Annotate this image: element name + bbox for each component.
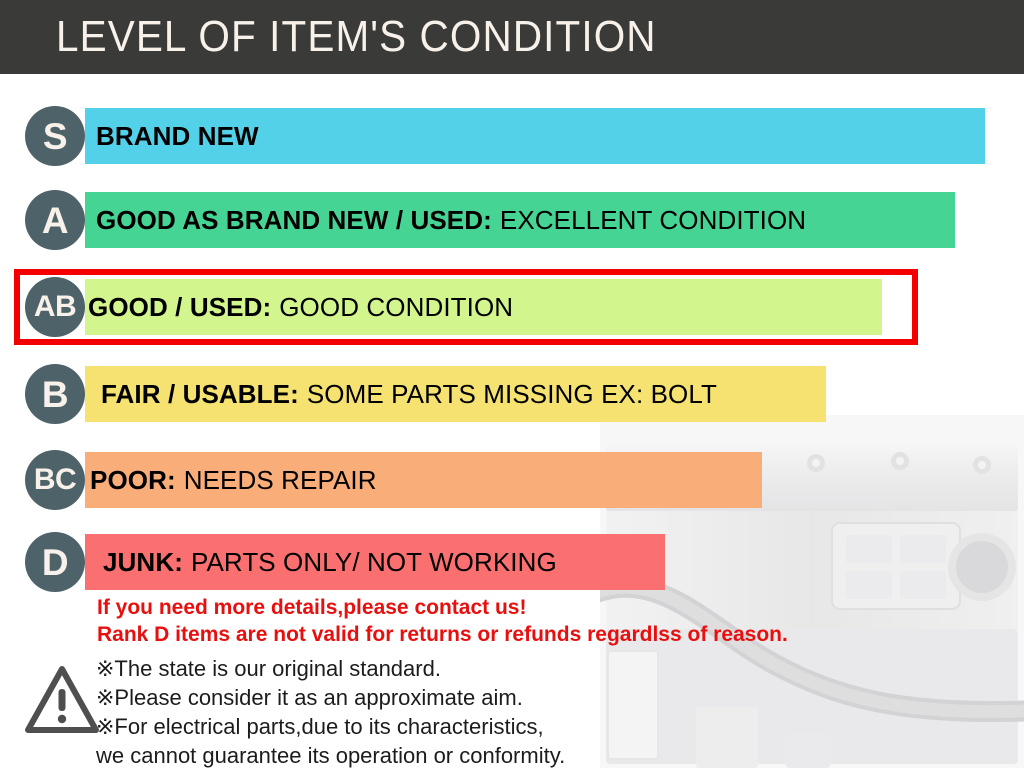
rank-text-b: FAIR / USABLE: SOME PARTS MISSING EX: BO… (101, 366, 717, 422)
rank-text-ab: GOOD / USED: GOOD CONDITION (88, 279, 513, 335)
rank-bold-label: GOOD AS BRAND NEW / USED: (96, 205, 492, 236)
rank-text-s: BRAND NEW (96, 108, 267, 164)
warning-triangle-icon (24, 664, 100, 736)
red-notice: If you need more details,please contact … (97, 594, 788, 648)
red-notice-line-2: Rank D items are not valid for returns o… (97, 621, 788, 648)
rank-bold-label: GOOD / USED: (88, 292, 271, 323)
rank-bold-label: BRAND NEW (96, 121, 259, 152)
footer-note-4: we cannot guarantee its operation or con… (96, 741, 565, 768)
rank-normal-label: PARTS ONLY/ NOT WORKING (191, 547, 557, 578)
rank-badge-a: A (25, 190, 85, 250)
footer-note-2: ※Please consider it as an approximate ai… (96, 683, 565, 712)
rank-badge-label: A (42, 202, 68, 239)
rank-badge-label: AB (34, 292, 76, 322)
rank-badge-label: BC (34, 465, 76, 495)
rank-badge-label: D (42, 544, 68, 581)
rank-badge-b: B (25, 364, 85, 424)
rank-normal-label: NEEDS REPAIR (184, 465, 377, 496)
rank-text-d: JUNK: PARTS ONLY/ NOT WORKING (103, 534, 557, 590)
rank-text-a: GOOD AS BRAND NEW / USED: EXCELLENT COND… (96, 192, 806, 248)
rank-bold-label: JUNK: (103, 547, 183, 578)
rank-text-bc: POOR: NEEDS REPAIR (90, 452, 377, 508)
rank-bold-label: FAIR / USABLE: (101, 379, 299, 410)
rank-normal-label: GOOD CONDITION (279, 292, 513, 323)
footer-notes: ※The state is our original standard. ※Pl… (96, 654, 565, 768)
footer-note-3: ※For electrical parts,due to its charact… (96, 712, 565, 741)
rank-badge-label: B (42, 376, 68, 413)
rank-badge-ab: AB (25, 277, 85, 337)
rank-badge-bc: BC (25, 450, 85, 510)
header-bar: LEVEL OF ITEM'S CONDITION (0, 0, 1024, 74)
rank-bold-label: POOR: (90, 465, 176, 496)
rank-badge-d: D (25, 532, 85, 592)
rank-normal-label: SOME PARTS MISSING EX: BOLT (307, 379, 717, 410)
page-title: LEVEL OF ITEM'S CONDITION (56, 14, 657, 60)
rank-normal-label: EXCELLENT CONDITION (500, 205, 806, 236)
rank-badge-s: S (25, 106, 85, 166)
red-notice-line-1: If you need more details,please contact … (97, 594, 788, 621)
footer-note-1: ※The state is our original standard. (96, 654, 565, 683)
rank-badge-label: S (43, 118, 67, 155)
condition-chart-page: LEVEL OF ITEM'S CONDITION S BRAND NEW A … (0, 0, 1024, 768)
